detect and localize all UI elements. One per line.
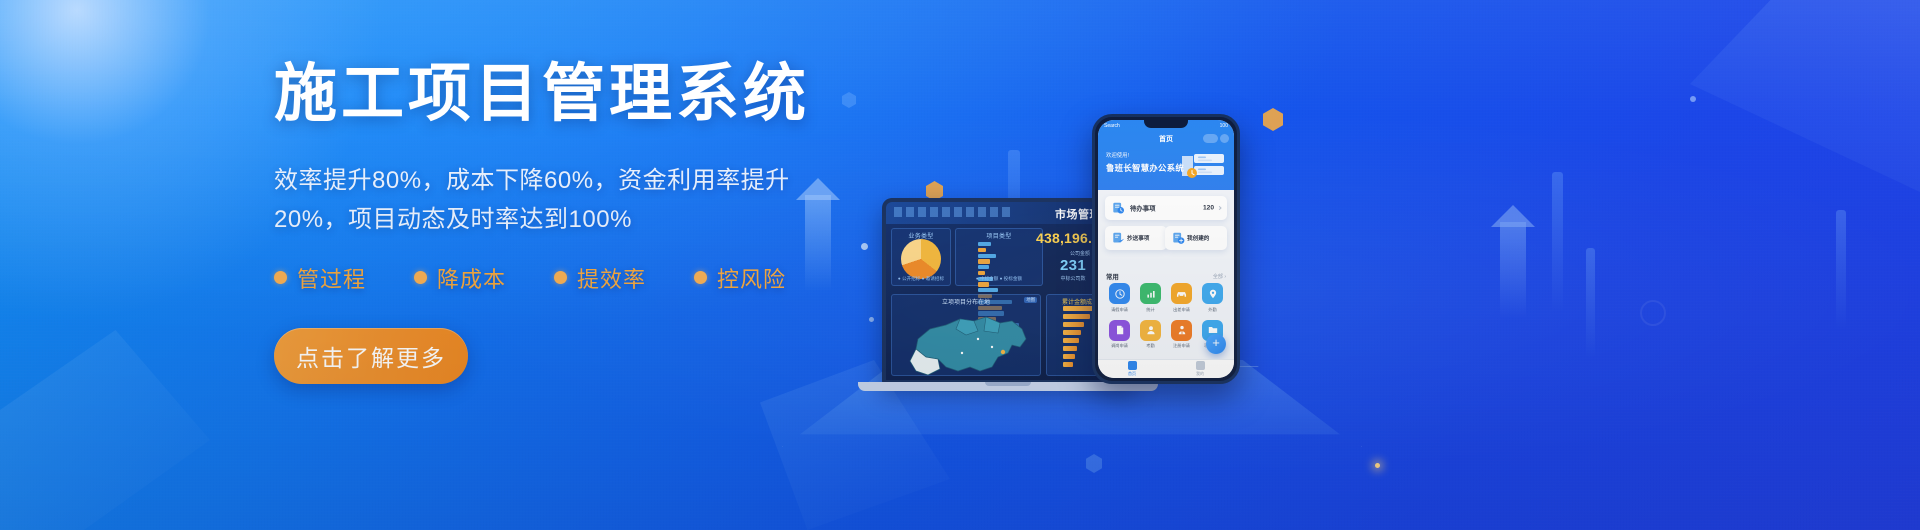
tab-home[interactable]: 首页 xyxy=(1128,361,1137,378)
app-tile-1[interactable]: 统计 xyxy=(1135,283,1166,313)
bullet-dot-icon xyxy=(554,271,567,284)
car-icon xyxy=(1171,283,1192,304)
page-title: 施工项目管理系统 xyxy=(274,60,894,128)
nav-title: 首页 xyxy=(1159,134,1173,144)
kpi-0: 231 中标公司数 xyxy=(1054,257,1092,282)
feature-tag-3: 控风险 xyxy=(694,262,786,294)
feature-tag-label: 降成本 xyxy=(437,262,506,294)
app-tile-0[interactable]: 请假申请 xyxy=(1104,283,1135,313)
section-all-label: 全部 xyxy=(1213,274,1223,280)
forward-icon xyxy=(1112,232,1125,245)
pie-chart xyxy=(901,239,941,279)
feature-tag-1: 降成本 xyxy=(414,262,506,294)
arrow-up-icon xyxy=(1500,222,1526,318)
pie-panel: 业务类型 ● 公开招标 ● 邀请招标 xyxy=(891,228,951,286)
device-mockups: 市场管理报表 业务类型 ● 公开招标 ● 邀请招标 项目类型 xyxy=(860,110,1320,440)
decor-polygon xyxy=(0,330,210,530)
app-label: 请假申请 xyxy=(1111,307,1128,313)
app-tile-6[interactable]: 注册申请 xyxy=(1166,320,1197,350)
app-label: 注册申请 xyxy=(1173,343,1190,349)
bars-legend: ● 中标金额 ● 投标金额 xyxy=(956,276,1042,282)
pie-legend: ● 公开招标 ● 邀请招标 xyxy=(892,276,950,282)
bullet-dot-icon xyxy=(694,271,707,284)
bar-row xyxy=(978,282,1037,286)
phone-navbar: 首页 xyxy=(1098,131,1234,146)
todo-label: 待办事项 xyxy=(1130,204,1156,213)
app-label: 出差申请 xyxy=(1173,307,1190,313)
bullet-dot-icon xyxy=(274,271,287,284)
bar-row xyxy=(978,259,1037,263)
bars-panel-title: 项目类型 xyxy=(956,231,1042,240)
china-map-icon xyxy=(900,309,1034,380)
feature-tag-label: 管过程 xyxy=(297,262,366,294)
target-icon[interactable] xyxy=(1220,134,1229,143)
bar-row xyxy=(978,242,1037,246)
app-tile-3[interactable]: 外勤 xyxy=(1197,283,1228,313)
bar-row xyxy=(978,288,1037,292)
dot-icon xyxy=(1690,96,1696,102)
banner-copy: 施工项目管理系统 效率提升80%，成本下降60%，资金利用率提升 20%，项目动… xyxy=(274,60,894,384)
clock-icon xyxy=(1109,283,1130,304)
bar-row xyxy=(978,265,1037,269)
app-tile-5[interactable]: 考勤 xyxy=(1135,320,1166,350)
tab-mine[interactable]: 我的 xyxy=(1196,361,1205,378)
app-label: 考勤 xyxy=(1146,343,1154,349)
quick-card-0[interactable]: 抄送事项 xyxy=(1105,226,1167,250)
home-icon xyxy=(1128,361,1137,370)
section-title: 常用 xyxy=(1106,272,1119,281)
illustration-icon xyxy=(1180,150,1228,182)
learn-more-button[interactable]: 点击了解更多 xyxy=(274,328,468,384)
chart-icon xyxy=(1140,283,1161,304)
app-label: 调岗申请 xyxy=(1111,343,1128,349)
decor-bar xyxy=(1836,210,1846,330)
battery-label: 100 xyxy=(1220,123,1228,129)
add-button[interactable]: + xyxy=(1206,334,1226,354)
tab-bar: 首页 我的 xyxy=(1098,359,1234,378)
todo-icon xyxy=(1112,202,1125,215)
map-panel-title: 立项项目分布在地 xyxy=(892,297,1040,306)
bar-row xyxy=(978,271,1037,275)
feature-tag-list: 管过程 降成本 提效率 控风险 xyxy=(274,262,894,294)
bar-chart xyxy=(978,242,1037,273)
app-label: 外勤 xyxy=(1208,307,1216,313)
hexagon-icon xyxy=(1086,454,1102,473)
section-all-link[interactable]: 全部 › xyxy=(1213,273,1226,280)
subtitle-line-2: 20%，项目动态及时率达到100% xyxy=(274,206,632,233)
subtitle-line-1: 效率提升80%，成本下降60%，资金利用率提升 xyxy=(274,167,790,194)
bar-row xyxy=(978,254,1037,258)
quick-card-1[interactable]: 我创建的 xyxy=(1165,226,1227,250)
banner-subtitle: 效率提升80%，成本下降60%，资金利用率提升 20%，项目动态及时率达到100… xyxy=(274,162,804,240)
welcome-hero: 欢迎使用! 鲁班长智慧办公系统 xyxy=(1098,146,1234,190)
person-icon xyxy=(1140,320,1161,341)
decor-polygon xyxy=(1690,0,1920,240)
phone-notch xyxy=(1144,120,1188,128)
create-icon xyxy=(1172,232,1185,245)
carrier-label: Search xyxy=(1104,123,1120,129)
promo-banner: 施工项目管理系统 效率提升80%，成本下降60%，资金利用率提升 20%，项目动… xyxy=(0,0,1920,530)
nav-actions[interactable] xyxy=(1203,134,1229,143)
decor-bar xyxy=(1552,172,1563,312)
glow-dot-icon xyxy=(1375,463,1380,468)
phone-mockup: Search 9:41 AM 100 首页 欢迎使用! 鲁班长智慧办公系统 xyxy=(1092,114,1240,384)
chevron-right-icon xyxy=(1217,206,1221,210)
kpi-value: 231 xyxy=(1054,257,1092,274)
tab-label: 我的 xyxy=(1196,371,1204,377)
todo-card[interactable]: 待办事项 120 xyxy=(1105,196,1227,220)
app-tile-4[interactable]: 调岗申请 xyxy=(1104,320,1135,350)
feature-tag-2: 提效率 xyxy=(554,262,646,294)
map-panel: 立项项目分布在地 地图 xyxy=(891,294,1041,376)
app-tile-2[interactable]: 出差申请 xyxy=(1166,283,1197,313)
feature-tag-label: 控风险 xyxy=(717,262,786,294)
todo-count: 120 xyxy=(1203,205,1214,212)
document-icon xyxy=(1109,320,1130,341)
tab-label: 首页 xyxy=(1128,371,1136,377)
map-badge[interactable]: 地图 xyxy=(1024,297,1037,303)
phone-screen: Search 9:41 AM 100 首页 欢迎使用! 鲁班长智慧办公系统 xyxy=(1098,120,1234,378)
feature-tag-label: 提效率 xyxy=(577,262,646,294)
people-icon xyxy=(1171,320,1192,341)
feature-tag-0: 管过程 xyxy=(274,262,366,294)
location-icon xyxy=(1202,283,1223,304)
bullet-dot-icon xyxy=(414,271,427,284)
ring-icon xyxy=(1640,300,1666,326)
decor-bar xyxy=(1586,248,1595,358)
kpi-label: 中标公司数 xyxy=(1054,275,1092,282)
user-icon xyxy=(1196,361,1205,370)
bar-row xyxy=(978,248,1037,252)
quick-label: 抄送事项 xyxy=(1127,234,1149,242)
quick-label: 我创建的 xyxy=(1187,234,1209,242)
hud-decoration xyxy=(894,207,1014,217)
bars-panel: 项目类型 xyxy=(955,228,1043,286)
more-icon[interactable] xyxy=(1203,134,1218,143)
app-label: 统计 xyxy=(1146,307,1154,313)
